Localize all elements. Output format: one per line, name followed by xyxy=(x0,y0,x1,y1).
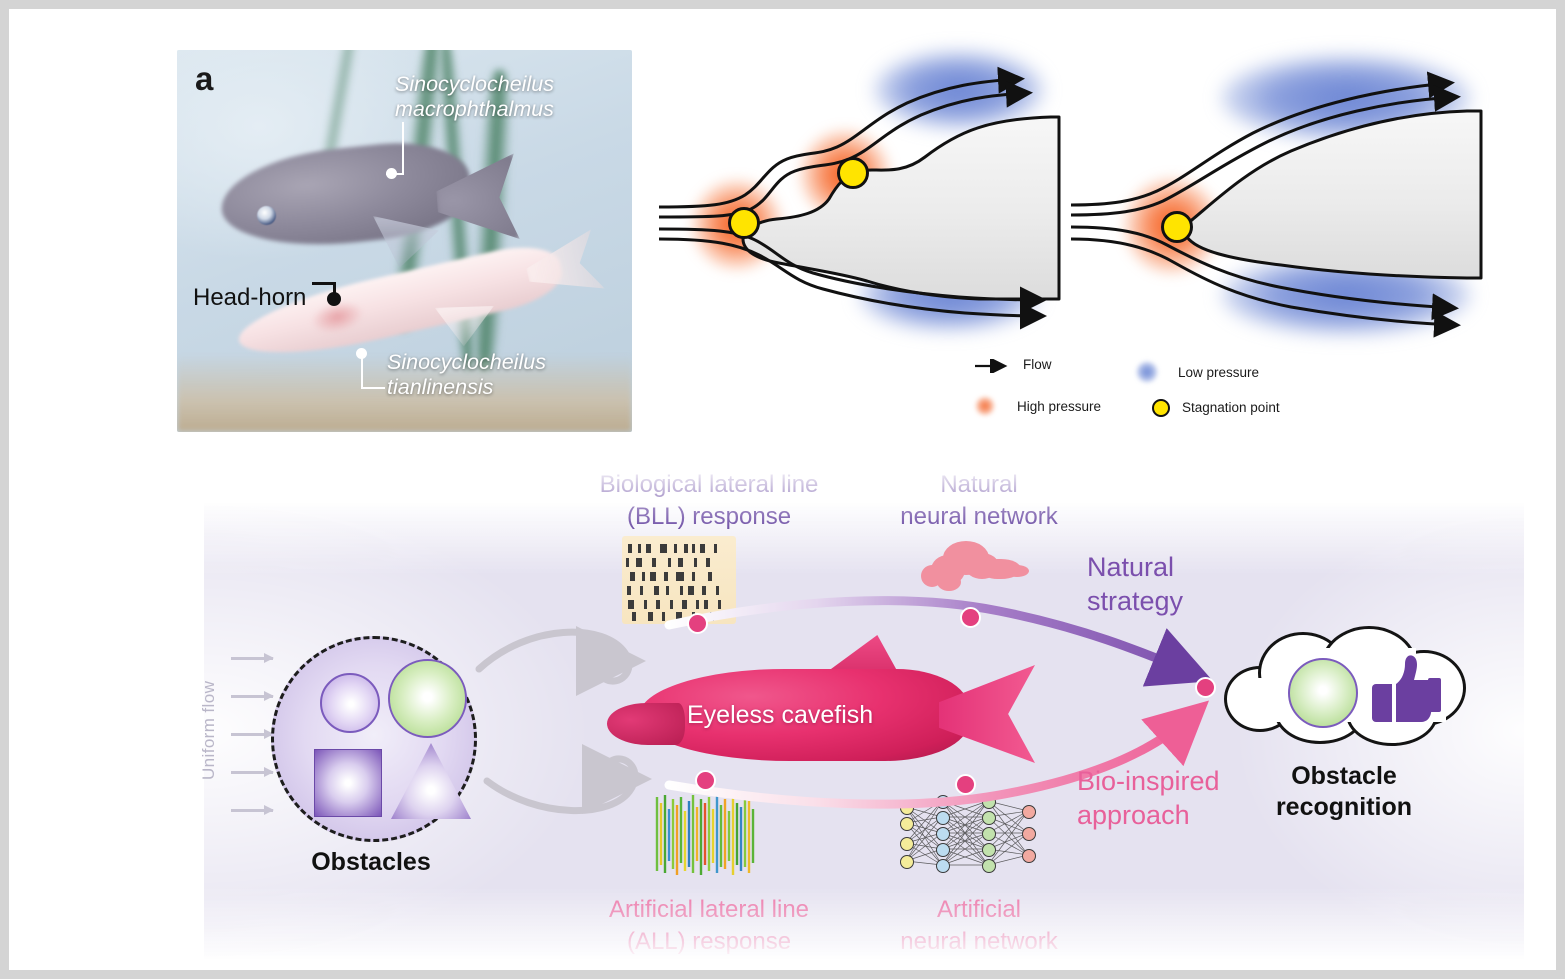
artificial-neural-network-label: Artificial neural network xyxy=(839,894,1119,957)
nn-hidden-node xyxy=(982,843,996,857)
path-node-natural-nn xyxy=(960,607,981,628)
uniform-flow-arrow xyxy=(231,657,273,660)
thumbs-up-icon xyxy=(1370,652,1442,726)
cavefish-model: Eyeless cavefish xyxy=(609,629,1029,789)
arrow-icon xyxy=(975,359,1011,373)
uniform-flow-arrow xyxy=(231,809,273,812)
cavefish-label: Eyeless cavefish xyxy=(687,701,873,730)
obstacle-large-green-circle[interactable] xyxy=(388,659,467,738)
species-label-tianlinensis: Sinocyclocheilus tianlinensis xyxy=(387,350,617,401)
blue-blob-icon xyxy=(1136,361,1158,383)
nn-output-node xyxy=(1022,849,1036,863)
head-horn-label: Head-horn xyxy=(193,284,306,312)
natural-strategy-label: Natural strategy xyxy=(1087,551,1267,619)
obstacle-small-circle[interactable] xyxy=(320,673,380,733)
path-node-converge xyxy=(1195,677,1216,698)
obstacle-triangle[interactable] xyxy=(391,743,471,819)
leader-line xyxy=(361,353,363,389)
nn-output-node xyxy=(1022,827,1036,841)
nn-hidden-node xyxy=(982,859,996,873)
natural-neural-network-label: Natural neural network xyxy=(839,469,1119,532)
uniform-flow-arrow xyxy=(231,771,273,774)
uniform-flow-label: Uniform flow xyxy=(199,645,225,815)
fish-head-profile xyxy=(1185,111,1481,278)
legend-label-high-pressure: High pressure xyxy=(1017,399,1101,414)
head-horn-dot xyxy=(327,292,341,306)
legend-label-flow: Flow xyxy=(1023,357,1052,372)
fish-head-profile xyxy=(743,117,1059,299)
flow-streamlines-svg xyxy=(659,59,1059,339)
bll-response-label: Biological lateral line (BLL) response xyxy=(549,469,869,532)
uniform-flow-arrow xyxy=(231,695,273,698)
obstacles-caption: Obstacles xyxy=(281,847,461,878)
nn-hidden-node xyxy=(936,859,950,873)
panel-a-photo: a Sinocyclocheilus macrophthalmus Sinocy… xyxy=(177,50,632,432)
nn-hidden-node xyxy=(936,843,950,857)
uniform-flow-arrow xyxy=(231,733,273,736)
stagnation-point-marker xyxy=(1161,211,1193,243)
bio-inspired-approach-label: Bio-inspired approach xyxy=(1077,765,1277,833)
no-horn-flow-diagram xyxy=(1071,59,1481,339)
nn-hidden-node xyxy=(936,827,950,841)
nn-hidden-node xyxy=(982,827,996,841)
nn-input-node xyxy=(900,817,914,831)
recognized-green-circle xyxy=(1288,658,1358,728)
head-horn-flow-diagram xyxy=(659,59,1059,339)
figure-root: a Sinocyclocheilus macrophthalmus Sinocy… xyxy=(0,0,1565,979)
swirl-arrow-upper xyxy=(479,632,629,681)
legend-label-stagnation-point: Stagnation point xyxy=(1182,400,1280,415)
leader-line xyxy=(386,173,404,175)
obstacle-recognition-cloud xyxy=(1224,626,1464,751)
legend-label-low-pressure: Low pressure xyxy=(1178,365,1259,380)
flow-streamlines-svg xyxy=(1071,59,1481,339)
orange-blob-icon xyxy=(975,396,995,416)
all-response-label: Artificial lateral line (ALL) response xyxy=(549,894,869,957)
nn-input-node xyxy=(900,855,914,869)
nn-input-node xyxy=(900,837,914,851)
obstacle-square[interactable] xyxy=(314,749,382,817)
stagnation-point-marker xyxy=(837,157,869,189)
stagnation-point-marker xyxy=(728,207,760,239)
panel-letter-a: a xyxy=(195,60,213,98)
species-label-macrophthalmus: Sinocyclocheilus macrophthalmus xyxy=(395,72,615,123)
obstacles-group[interactable] xyxy=(271,636,477,842)
leader-line xyxy=(361,387,385,389)
leader-line xyxy=(402,122,404,174)
yellow-dot-icon xyxy=(1152,399,1170,417)
